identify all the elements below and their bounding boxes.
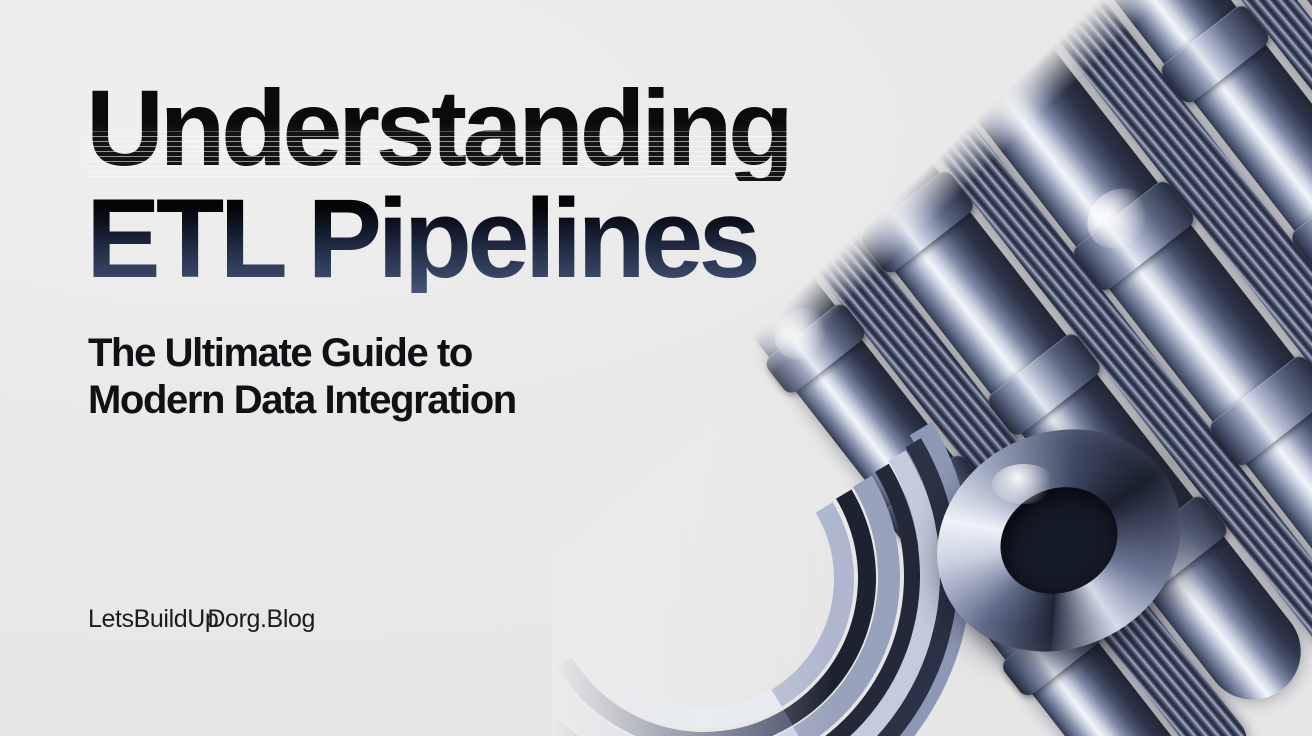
footer-brand-part2: Dorg.Blog xyxy=(207,605,315,633)
subtitle-line1: The Ultimate Guide to xyxy=(88,330,848,377)
subtitle-line2: Modern Data Integration xyxy=(88,377,848,424)
footer-brand[interactable]: LetsBuildUpDorg.Blog xyxy=(88,605,315,639)
blog-hero-banner: Understanding ETL Pipelines The Ultimate… xyxy=(0,0,1312,736)
headline-block: Understanding ETL Pipelines xyxy=(86,76,1006,293)
subtitle-block: The Ultimate Guide to Modern Data Integr… xyxy=(88,330,848,424)
banner-content: Understanding ETL Pipelines The Ultimate… xyxy=(86,0,1006,736)
headline-line2: ETL Pipelines xyxy=(86,185,1006,294)
footer-brand-part1: LetsBuildUp xyxy=(88,605,218,633)
headline-line1: Understanding xyxy=(86,76,790,181)
headline-line1-wrap: Understanding xyxy=(86,76,790,181)
